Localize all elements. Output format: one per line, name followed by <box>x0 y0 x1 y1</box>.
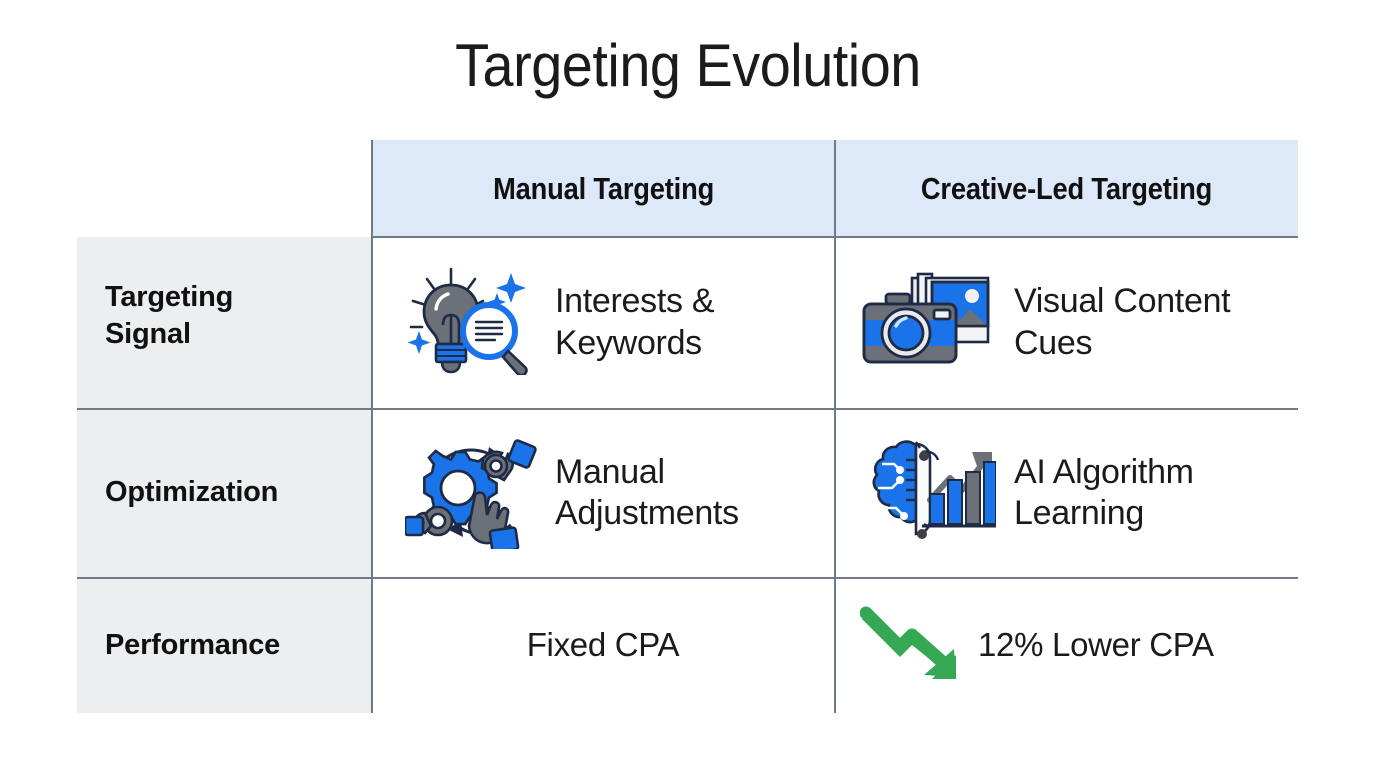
column-header-manual-targeting-label: Manual Targeting <box>493 171 714 207</box>
hands-gears-icon <box>405 433 537 554</box>
cell-text-fixed-cpa: Fixed CPA <box>527 625 680 665</box>
cell-optimization-creative: AI AlgorithmLearning <box>850 409 1308 577</box>
cell-performance-manual: Fixed CPA <box>372 578 834 713</box>
green-down-arrow-icon <box>860 605 964 686</box>
row-label-targeting-signal: TargetingSignal <box>105 279 233 353</box>
camera-photos-icon <box>860 266 996 379</box>
page-title: Targeting Evolution <box>48 34 1328 97</box>
cell-performance-creative: 12% Lower CPA <box>850 578 1308 713</box>
cell-text-ai-algorithm-learning: AI AlgorithmLearning <box>1014 452 1194 535</box>
cell-text-manual-adjustments: ManualAdjustments <box>555 452 739 535</box>
cell-targeting-signal-manual: Interests &Keywords <box>387 237 852 408</box>
cell-text-interests-keywords: Interests &Keywords <box>555 281 714 364</box>
cell-optimization-manual: ManualAdjustments <box>387 409 852 577</box>
comparison-table: Manual Targeting Creative-Led Targeting … <box>77 140 1298 713</box>
cell-text-lower-cpa: 12% Lower CPA <box>978 625 1214 665</box>
slide-canvas: Targeting Evolution Manual Targeting Cre… <box>0 0 1376 768</box>
cell-text-visual-content-cues: Visual ContentCues <box>1014 281 1230 364</box>
row-label-performance: Performance <box>105 627 280 664</box>
column-header-creative-led-targeting: Creative-Led Targeting <box>835 140 1298 237</box>
brain-chart-icon <box>860 436 996 551</box>
column-header-creative-led-targeting-label: Creative-Led Targeting <box>921 171 1212 207</box>
row-label-optimization: Optimization <box>105 474 278 511</box>
column-header-manual-targeting: Manual Targeting <box>372 140 835 237</box>
cell-targeting-signal-creative: Visual ContentCues <box>850 237 1308 408</box>
lightbulb-magnifier-icon <box>405 265 537 380</box>
